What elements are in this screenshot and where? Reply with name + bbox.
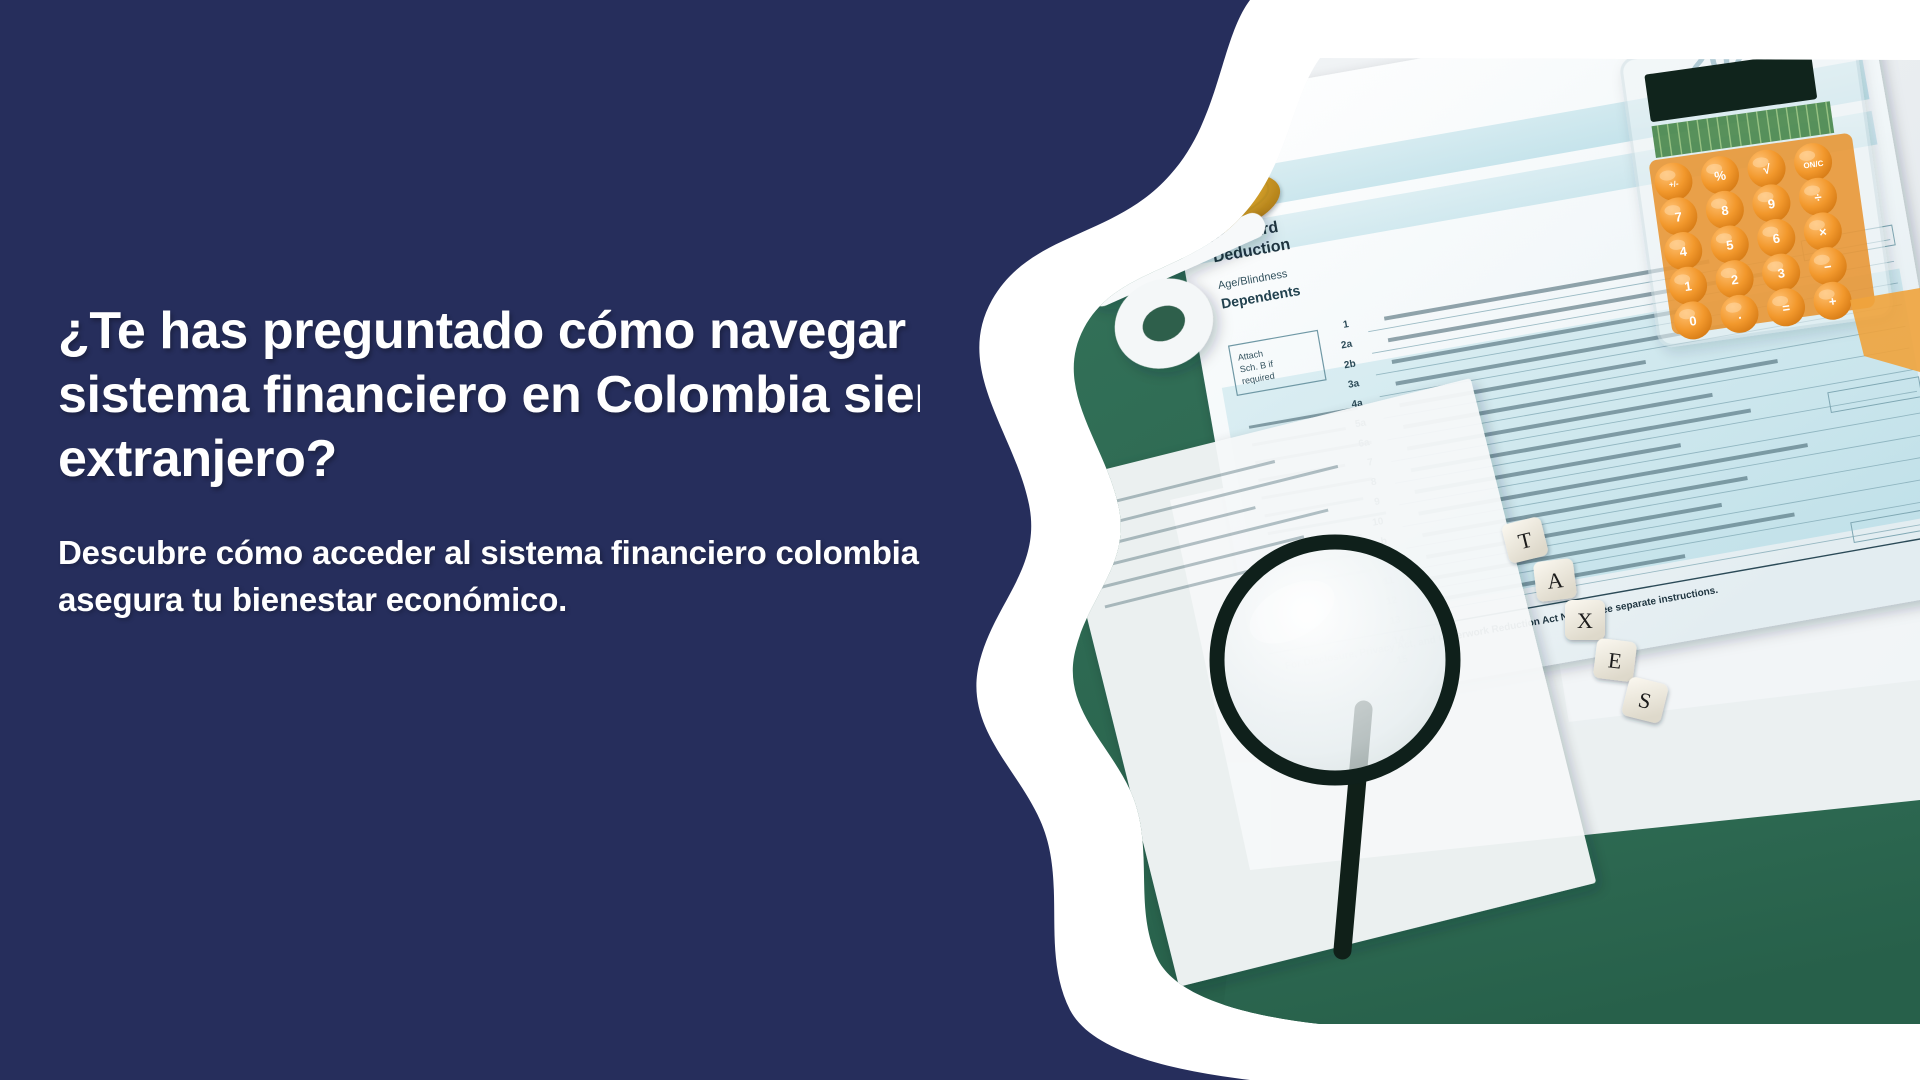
letter-cube: E bbox=[1593, 638, 1638, 683]
letter-cube: A bbox=[1533, 558, 1578, 603]
letter-cube-glyph: A bbox=[1546, 567, 1565, 594]
letter-cube: X bbox=[1565, 600, 1605, 640]
calculator: +/-%√ON/C789÷456×123−0.=+ bbox=[1620, 27, 1893, 347]
form-line-number: 2b bbox=[1343, 358, 1356, 371]
calculator-key-label: +/- bbox=[1668, 179, 1679, 189]
hero-banner: ¿Te has preguntado cómo navegar el siste… bbox=[0, 0, 1920, 1080]
blob-photo-illustration: Standard Deduction Age/Blindness Depende… bbox=[920, 0, 1920, 1080]
hero-artwork: Standard Deduction Age/Blindness Depende… bbox=[920, 0, 1920, 1080]
hero-subtitle: Descubre cómo acceder al sistema financi… bbox=[58, 530, 1058, 624]
letter-cube-glyph: X bbox=[1577, 608, 1593, 633]
